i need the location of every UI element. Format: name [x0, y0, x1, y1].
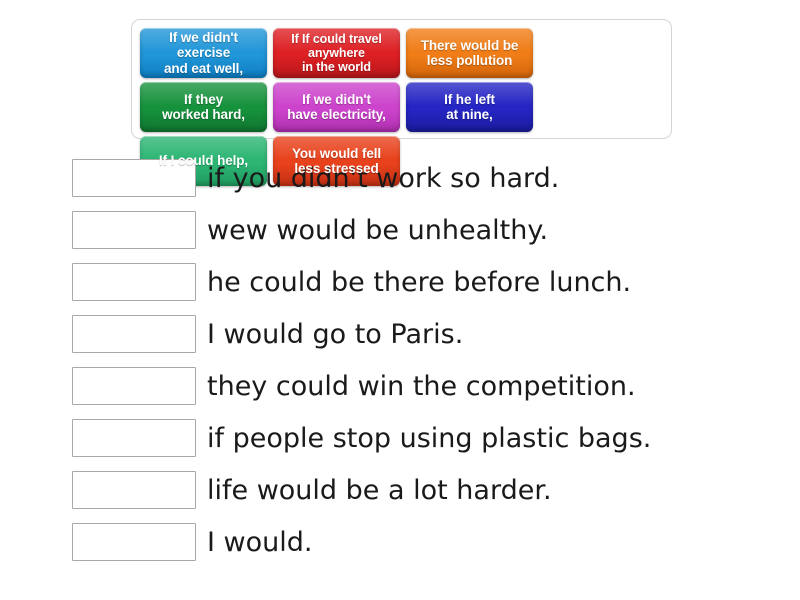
sentence-ending-text: I would.	[207, 529, 312, 556]
tile-label-line: less pollution	[421, 53, 519, 68]
answer-row-5: they could win the competition.	[0, 360, 800, 412]
tile-slot: If he leftat nine,	[403, 80, 536, 134]
tile-label-line: worked hard,	[162, 107, 245, 122]
tile-if-he-left-at-nine[interactable]: If he leftat nine,	[406, 82, 533, 132]
tile-label: If we didn't exerciseand eat well,	[144, 30, 263, 75]
draggable-tiles-tray: If we didn't exerciseand eat well,If If …	[131, 19, 672, 139]
tile-label: You would fellless stressed	[292, 146, 381, 176]
sentence-ending-text: wew would be unhealthy.	[207, 217, 548, 244]
tile-label-line: If he left	[444, 92, 495, 107]
tile-label-line: If they	[162, 92, 245, 107]
answer-row-7: life would be a lot harder.	[0, 464, 800, 516]
tile-label: If we didn'thave electricity,	[287, 92, 386, 122]
tile-label-line: If we didn't	[287, 92, 386, 107]
tile-label-line: have electricity,	[287, 107, 386, 122]
answer-rows-list: if you didn't work so hard.wew would be …	[0, 152, 800, 568]
tile-label: If I could help,	[159, 153, 248, 168]
tile-slot: There would beless pollution	[403, 26, 536, 80]
sentence-ending-text: he could be there before lunch.	[207, 269, 631, 296]
tile-label-line: If I could help,	[159, 153, 248, 168]
tile-if-they-worked-hard[interactable]: If theyworked hard,	[140, 82, 267, 132]
answer-dropzone[interactable]	[72, 419, 196, 457]
tile-label: There would beless pollution	[421, 38, 519, 68]
answer-dropzone[interactable]	[72, 211, 196, 249]
answer-row-4: I would go to Paris.	[0, 308, 800, 360]
answer-row-1: if you didn't work so hard.	[0, 152, 800, 204]
tile-label: If If could travelanywherein the world	[291, 32, 382, 75]
answer-row-3: he could be there before lunch.	[0, 256, 800, 308]
tile-label-line: less stressed	[292, 161, 381, 176]
tile-slot: If we didn't exerciseand eat well,	[137, 26, 270, 80]
tile-label-line: in the world	[291, 60, 382, 74]
sentence-ending-text: if you didn't work so hard.	[207, 165, 559, 192]
sentence-ending-text: they could win the competition.	[207, 373, 636, 400]
tile-slot: If theyworked hard,	[137, 80, 270, 134]
tile-label-line: anywhere	[291, 46, 382, 60]
sentence-ending-text: I would go to Paris.	[207, 321, 463, 348]
tile-label: If he leftat nine,	[444, 92, 495, 122]
answer-dropzone[interactable]	[72, 263, 196, 301]
tile-label-line: and eat well,	[144, 61, 263, 76]
tile-label-line: If If could travel	[291, 32, 382, 46]
tile-exercise-eat-well[interactable]: If we didn't exerciseand eat well,	[140, 28, 267, 78]
tile-slot: If If could travelanywherein the world	[270, 26, 403, 80]
answer-row-8: I would.	[0, 516, 800, 568]
sentence-ending-text: if people stop using plastic bags.	[207, 425, 651, 452]
answer-dropzone[interactable]	[72, 523, 196, 561]
tile-label-line: There would be	[421, 38, 519, 53]
tile-label-line: at nine,	[444, 107, 495, 122]
answer-dropzone[interactable]	[72, 367, 196, 405]
tile-slot: If we didn'thave electricity,	[270, 80, 403, 134]
tile-less-pollution[interactable]: There would beless pollution	[406, 28, 533, 78]
tile-label-line: If we didn't exercise	[144, 30, 263, 60]
sentence-ending-text: life would be a lot harder.	[207, 477, 552, 504]
activity-stage: If we didn't exerciseand eat well,If If …	[0, 0, 800, 600]
answer-dropzone[interactable]	[72, 471, 196, 509]
tile-no-electricity[interactable]: If we didn'thave electricity,	[273, 82, 400, 132]
answer-row-2: wew would be unhealthy.	[0, 204, 800, 256]
answer-row-6: if people stop using plastic bags.	[0, 412, 800, 464]
answer-dropzone[interactable]	[72, 315, 196, 353]
tile-could-travel-anywhere[interactable]: If If could travelanywherein the world	[273, 28, 400, 78]
tile-label-line: You would fell	[292, 146, 381, 161]
tile-label: If theyworked hard,	[162, 92, 245, 122]
